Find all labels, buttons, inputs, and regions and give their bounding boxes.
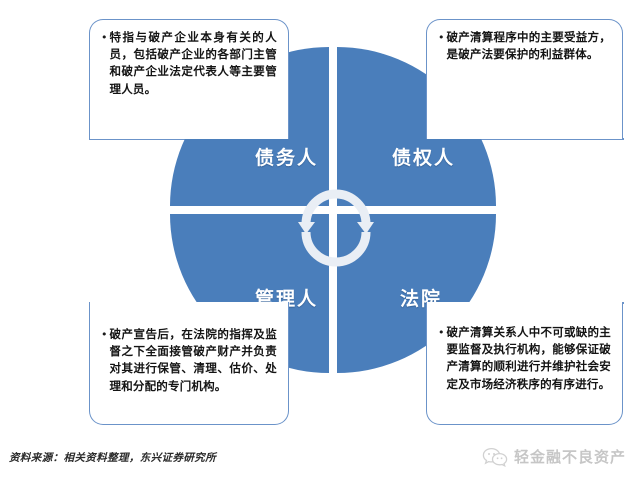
quadrant-label-creditor: 债权人 bbox=[392, 143, 455, 170]
callout-creditor: • 破产清算程序中的主要受益方，是破产法要保护的利益群体。 bbox=[426, 19, 623, 139]
callout-text-administrator: 破产宣告后，在法院的指挥及监督之下全面接管破产财产并负责对其进行保管、清理、估价… bbox=[110, 326, 278, 395]
callout-text-creditor: 破产清算程序中的主要受益方，是破产法要保护的利益群体。 bbox=[447, 29, 612, 63]
diagram-canvas: 债务人 债权人 管理人 法院 • 特指与破产企业本身有关的人员，包括破产企业的各… bbox=[0, 0, 640, 477]
bullet-icon: • bbox=[438, 324, 445, 341]
bullet-icon: • bbox=[101, 29, 108, 46]
bullet-icon: • bbox=[101, 326, 108, 343]
callout-text-court: 破产清算关系人中不可或缺的主要监督及执行机构，能够保证破产清算的顺利进行并维护社… bbox=[447, 324, 612, 393]
callout-administrator: • 破产宣告后，在法院的指挥及监督之下全面接管破产财产并负责对其进行保管、清理、… bbox=[89, 302, 289, 425]
callout-court: • 破产清算关系人中不可或缺的主要监督及执行机构，能够保证破产清算的顺利进行并维… bbox=[426, 302, 623, 425]
callout-debtor: • 特指与破产企业本身有关的人员，包括破产企业的各部门主管和破产企业法定代表人等… bbox=[89, 19, 289, 139]
watermark-text: 轻金融不良资产 bbox=[514, 446, 626, 467]
watermark: 轻金融不良资产 bbox=[482, 446, 626, 467]
bullet-icon: • bbox=[438, 29, 445, 46]
wechat-bubble-icon bbox=[482, 447, 508, 467]
cyclic-arrows-icon bbox=[292, 178, 380, 278]
callout-text-debtor: 特指与破产企业本身有关的人员，包括破产企业的各部门主管和破产企业法定代表人等主要… bbox=[110, 29, 278, 98]
source-note: 资料来源：相关资料整理，东兴证券研究所 bbox=[9, 450, 216, 465]
quadrant-label-debtor: 债务人 bbox=[255, 143, 318, 170]
